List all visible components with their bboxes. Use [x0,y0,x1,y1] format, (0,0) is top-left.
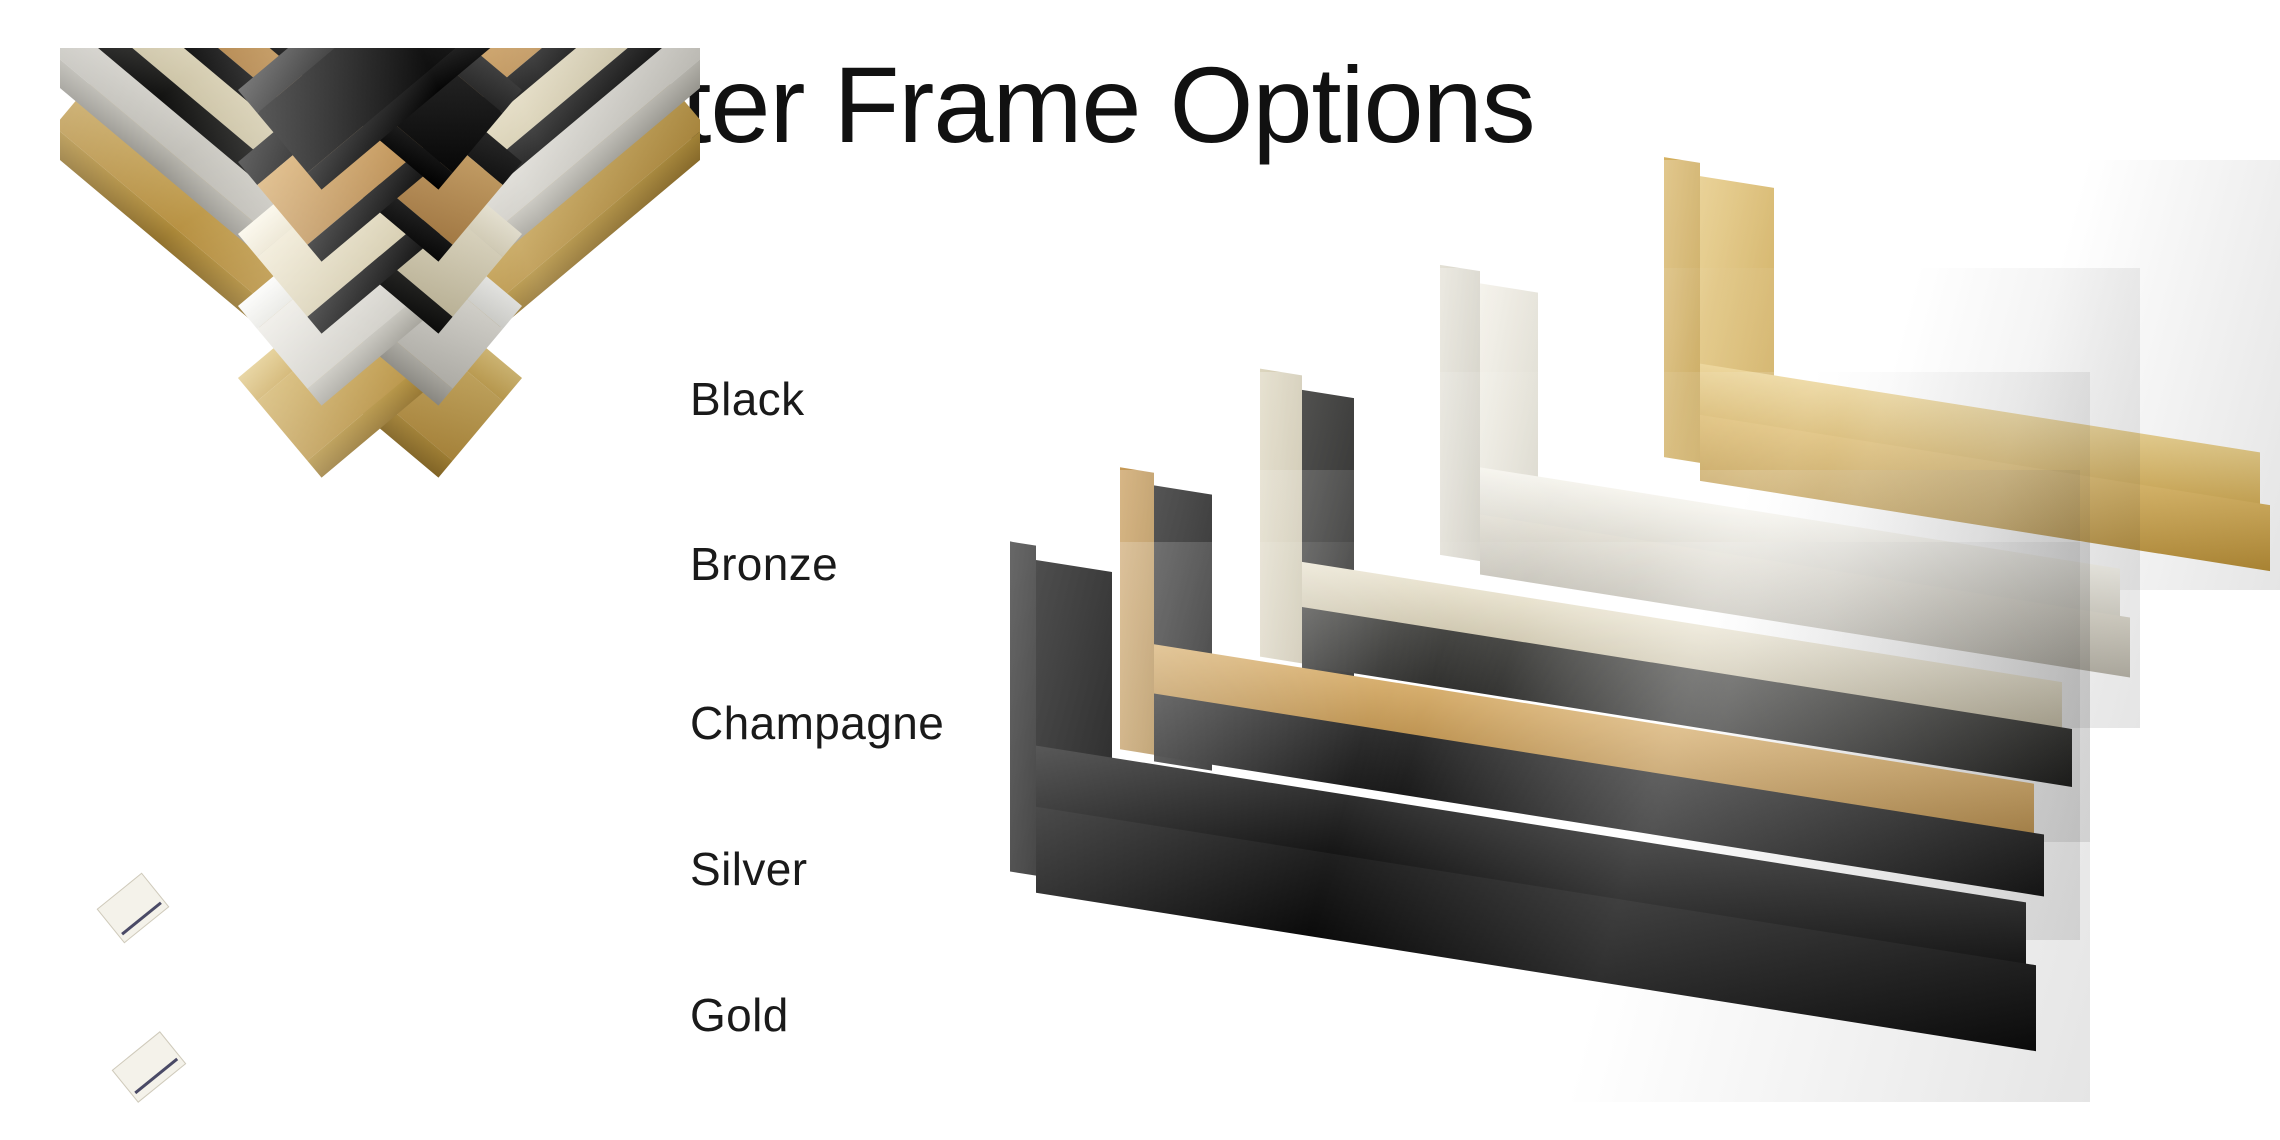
finish-label-silver: Silver [690,842,807,896]
finish-label-champagne: Champagne [690,696,944,750]
finish-label-gold: Gold [690,988,789,1042]
frame-rail-vertical [1010,538,1036,875]
finish-label-bronze: Bronze [690,537,838,591]
right-perspective-photo [1010,150,2280,1140]
finish-label-black: Black [690,372,804,426]
sample-chevron-black [60,90,700,810]
slide-canvas: Floater Frame Options [0,0,2280,1140]
perspective-frame-black [1010,542,2090,1102]
left-sample-stack-photo [60,48,700,1138]
